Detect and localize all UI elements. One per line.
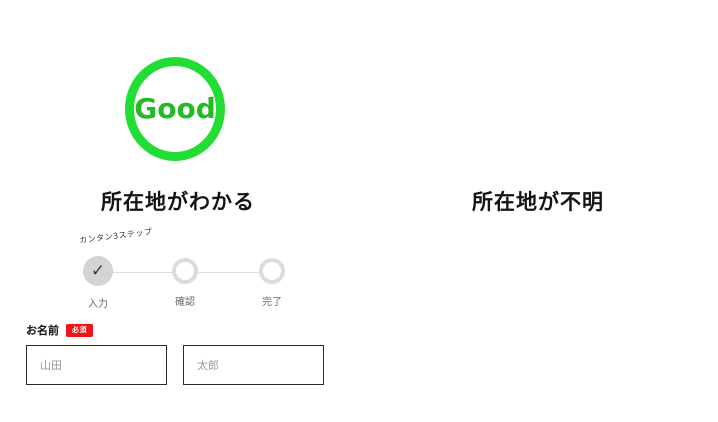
empty-circle-icon <box>172 258 198 284</box>
stepper-caption: カンタン3ステップ <box>79 226 153 246</box>
good-circle-icon: Good <box>125 57 225 161</box>
last-name-input[interactable] <box>26 345 167 385</box>
stepper-step-label: 完了 <box>254 293 290 308</box>
good-example-column: Good 所在地がわかる カンタン3ステップ ✓ 入力 確認 完了 お名前 必須 <box>0 0 360 422</box>
name-inputs-row <box>26 345 331 385</box>
field-label-row: お名前 必須 <box>26 322 331 338</box>
check-circle-icon: ✓ <box>83 256 113 286</box>
good-mark-label: Good <box>134 95 216 123</box>
good-name-form: お名前 必須 <box>26 322 331 385</box>
stepper-step-label: 確認 <box>167 293 203 308</box>
check-icon: ✓ <box>91 263 105 280</box>
bad-example-column: Bad 所在地が不明 お名前 必須 <box>360 0 718 422</box>
stepper-step-confirm[interactable]: 確認 <box>167 256 203 308</box>
stepper-step-label: 入力 <box>80 295 116 310</box>
bad-heading: 所在地が不明 <box>360 186 716 216</box>
good-heading: 所在地がわかる <box>0 186 356 216</box>
first-name-input[interactable] <box>183 345 324 385</box>
name-field-label: お名前 <box>26 322 59 338</box>
stepper-step-input[interactable]: ✓ 入力 <box>80 256 116 310</box>
stepper-step-complete[interactable]: 完了 <box>254 256 290 308</box>
empty-circle-icon <box>259 258 285 284</box>
progress-stepper: カンタン3ステップ ✓ 入力 確認 完了 <box>80 256 290 312</box>
required-badge: 必須 <box>66 324 93 337</box>
